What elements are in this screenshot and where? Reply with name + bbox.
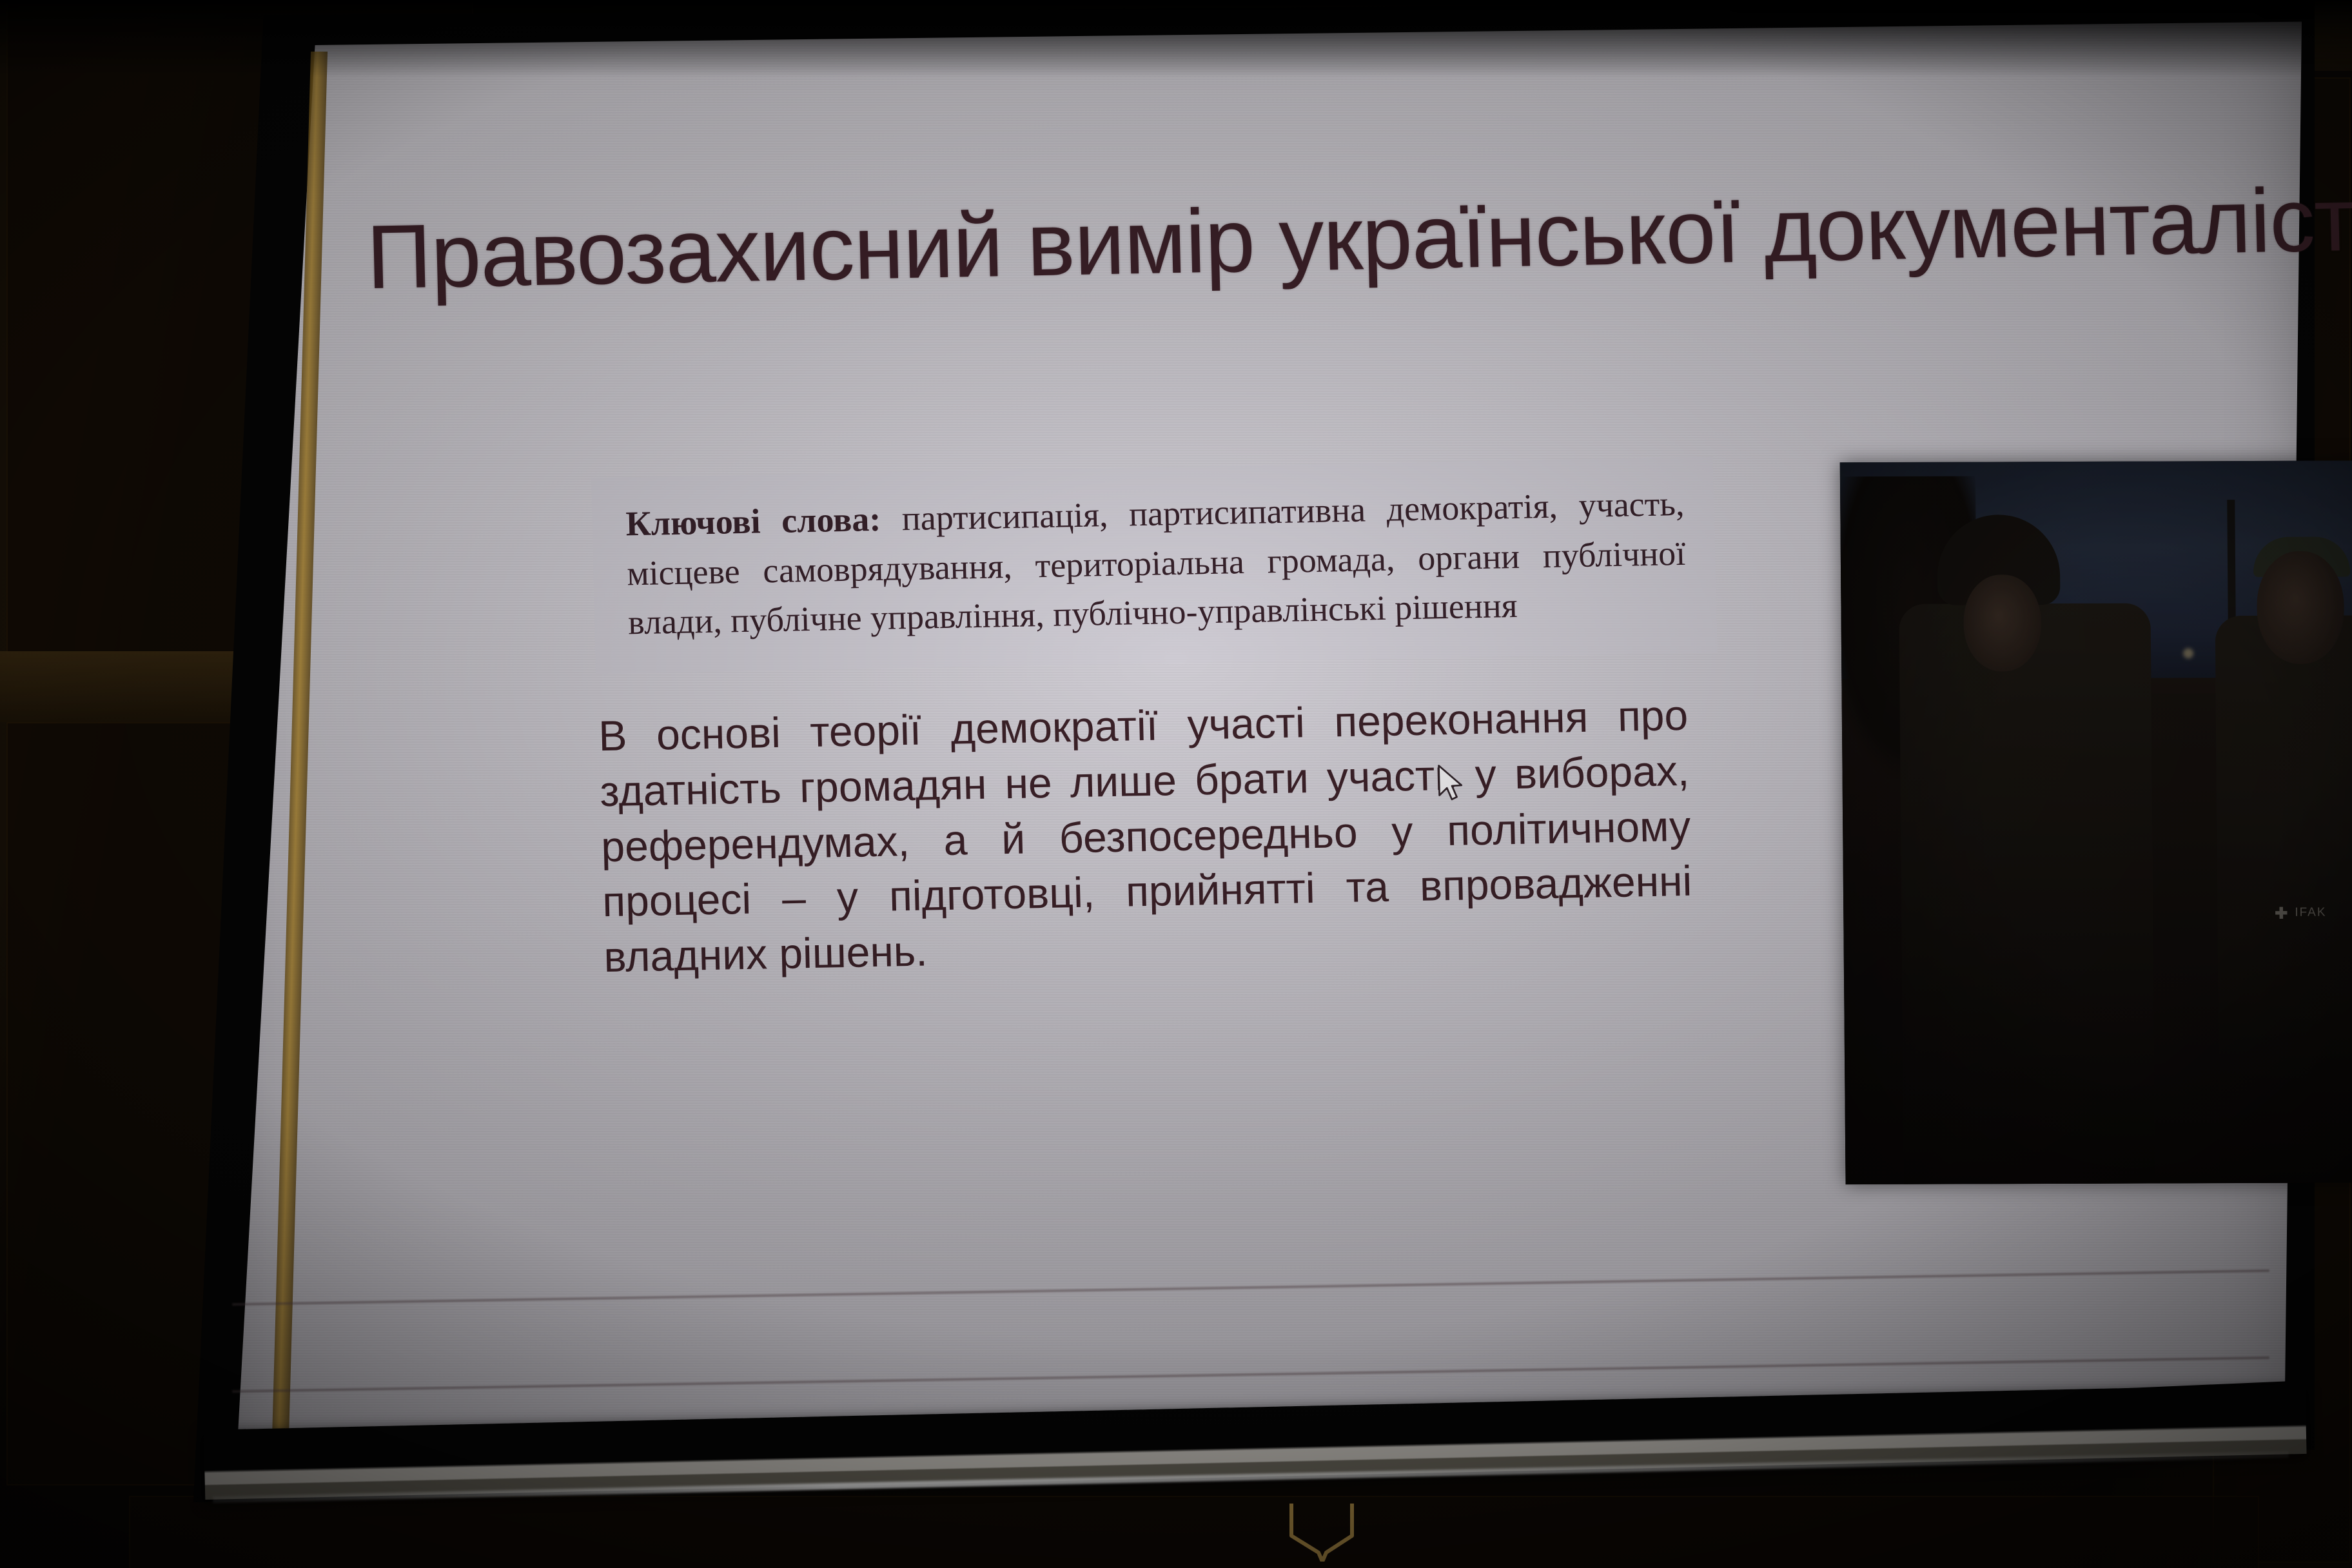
slide-content: Правозахисний вимір української документ… (232, 0, 2352, 1424)
slide-body-paragraph: В основі теорії демократії участі переко… (598, 688, 1694, 985)
photo-dimming (1840, 460, 2352, 1184)
screen-pull-handle-icon[interactable] (1280, 1502, 1364, 1562)
projection-screen: Правозахисний вимір української документ… (0, 0, 2352, 1568)
slide-title: Правозахисний вимір української документ… (366, 169, 2352, 304)
projection-scene: Правозахисний вимір української документ… (0, 0, 2352, 1568)
slide-photo: IFAK (1840, 460, 2352, 1184)
keywords-box: Ключові слова: партисипація, партисипати… (591, 456, 1718, 674)
keywords-paragraph: Ключові слова: партисипація, партисипати… (625, 479, 1687, 647)
keywords-label: Ключові слова: (625, 500, 881, 544)
